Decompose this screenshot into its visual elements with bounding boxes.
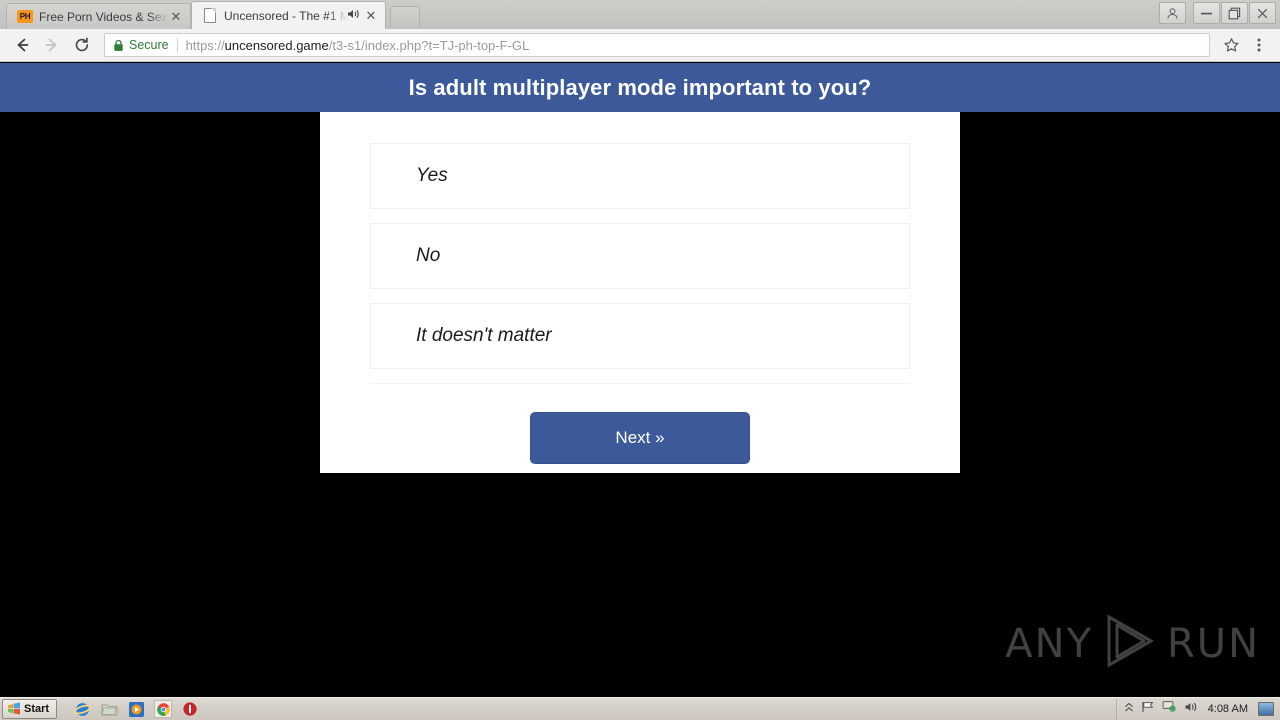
- play-triangle-icon: [1099, 613, 1161, 674]
- option-it-doesnt-matter[interactable]: It doesn't matter: [370, 303, 910, 369]
- address-bar[interactable]: Secure https://uncensored.game/t3-s1/ind…: [104, 33, 1210, 57]
- volume-icon[interactable]: [1184, 700, 1198, 718]
- omnibox-divider: [177, 38, 178, 53]
- url-scheme: https://: [186, 38, 225, 53]
- flag-icon[interactable]: [1141, 700, 1155, 718]
- watermark-text-left: ANY: [1005, 621, 1093, 667]
- secure-label: Secure: [129, 38, 169, 52]
- survey-header: Is adult multiplayer mode important to y…: [0, 63, 1280, 112]
- document-favicon: [202, 8, 218, 24]
- next-button-container: Next »: [320, 412, 960, 464]
- page-viewport: Is adult multiplayer mode important to y…: [0, 63, 1280, 697]
- windows-taskbar: Start: [0, 697, 1280, 720]
- start-label: Start: [24, 703, 49, 715]
- option-label: It doesn't matter: [416, 325, 552, 347]
- quick-launch-bar: [73, 700, 199, 718]
- speaker-icon[interactable]: [347, 8, 361, 23]
- section-divider: [370, 383, 910, 384]
- ph-favicon: PH: [17, 9, 33, 25]
- page-title: Is adult multiplayer mode important to y…: [409, 75, 872, 101]
- url-path: /t3-s1/index.php?t=TJ-ph-top-F-GL: [329, 38, 530, 53]
- anyrun-watermark: ANY RUN: [1005, 613, 1260, 674]
- window-controls: [1159, 2, 1276, 24]
- network-icon[interactable]: [1162, 700, 1177, 718]
- chrome-icon[interactable]: [154, 700, 172, 718]
- internet-explorer-icon[interactable]: [73, 700, 91, 718]
- clock[interactable]: 4:08 AM: [1208, 703, 1248, 715]
- watermark-text-right: RUN: [1167, 621, 1260, 667]
- chevron-up-icon[interactable]: [1124, 700, 1134, 718]
- tab-title: Free Porn Videos & Sex Mov: [39, 10, 168, 24]
- option-yes[interactable]: Yes: [370, 143, 910, 209]
- close-icon[interactable]: ✕: [363, 9, 379, 22]
- option-no[interactable]: No: [370, 223, 910, 289]
- back-arrow-icon[interactable]: [8, 31, 36, 59]
- close-icon[interactable]: ✕: [168, 10, 184, 23]
- survey-card: Yes No It doesn't matter Next »: [320, 112, 960, 473]
- option-label: Yes: [416, 165, 448, 187]
- maximize-icon[interactable]: [1221, 2, 1248, 24]
- system-tray: 4:08 AM: [1116, 699, 1280, 720]
- url-text: https://uncensored.game/t3-s1/index.php?…: [186, 38, 530, 53]
- close-icon[interactable]: [1249, 2, 1276, 24]
- forward-arrow-icon: [38, 31, 66, 59]
- start-button[interactable]: Start: [2, 699, 57, 719]
- media-player-icon[interactable]: [127, 700, 145, 718]
- minimize-icon[interactable]: [1193, 2, 1220, 24]
- browser-tab-2[interactable]: Uncensored - The #1 M ✕: [191, 1, 386, 29]
- options-list: Yes No It doesn't matter: [320, 112, 960, 369]
- next-button[interactable]: Next »: [530, 412, 750, 464]
- option-label: No: [416, 245, 440, 267]
- tab-strip: PH Free Porn Videos & Sex Mov ✕ Uncensor…: [0, 0, 1280, 29]
- url-host: uncensored.game: [225, 38, 329, 53]
- star-icon[interactable]: [1218, 32, 1244, 58]
- tab-title: Uncensored - The #1 M: [224, 9, 347, 23]
- reload-icon[interactable]: [68, 31, 96, 59]
- browser-tab-1[interactable]: PH Free Porn Videos & Sex Mov ✕: [6, 3, 191, 29]
- browser-window: PH Free Porn Videos & Sex Mov ✕ Uncensor…: [0, 0, 1280, 720]
- show-desktop-icon[interactable]: [1258, 702, 1274, 716]
- browser-toolbar: Secure https://uncensored.game/t3-s1/ind…: [0, 29, 1280, 62]
- folder-icon[interactable]: [100, 700, 118, 718]
- stop-record-icon[interactable]: [181, 700, 199, 718]
- lock-icon: [113, 39, 124, 52]
- new-tab-button[interactable]: [390, 6, 420, 28]
- windows-logo-icon: [7, 702, 21, 716]
- profile-icon[interactable]: [1159, 2, 1186, 24]
- three-dot-menu-icon[interactable]: [1246, 32, 1272, 58]
